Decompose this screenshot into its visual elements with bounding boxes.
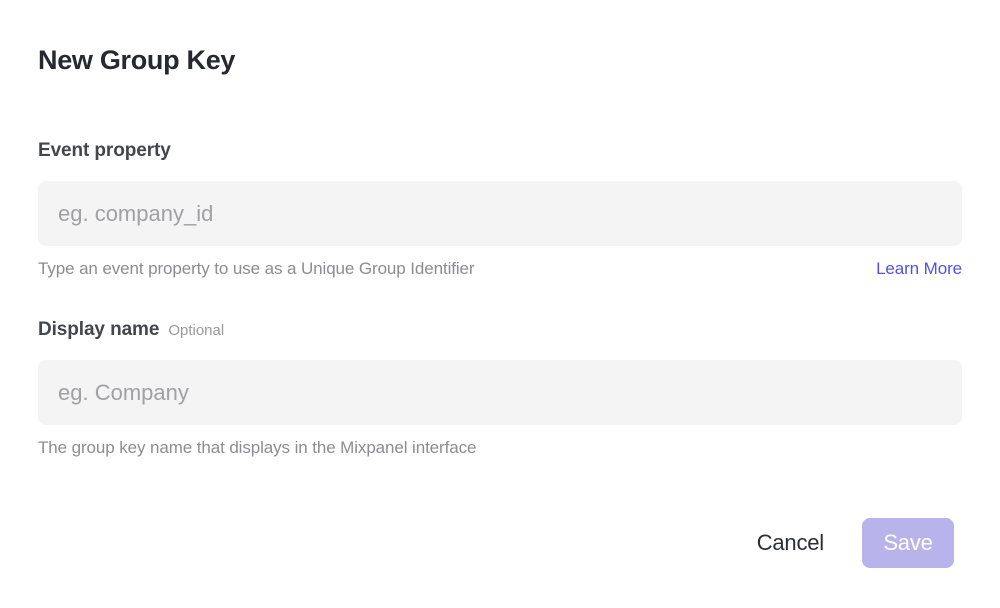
field-display-name: Display name Optional The group key name… (0, 319, 1000, 458)
field-label-display-name: Display name (38, 319, 159, 341)
save-button[interactable]: Save (862, 518, 954, 568)
field-label-row: Event property (38, 140, 962, 166)
new-group-key-dialog: New Group Key Event property Type an eve… (0, 0, 1000, 608)
display-name-input[interactable] (38, 360, 962, 425)
field-helper-row: The group key name that displays in the … (38, 438, 962, 458)
field-optional-tag: Optional (168, 322, 224, 339)
event-property-input[interactable] (38, 181, 962, 246)
field-spacer (0, 279, 1000, 319)
dialog-footer: Cancel Save (757, 518, 954, 568)
event-property-helper-text: Type an event property to use as a Uniqu… (38, 259, 474, 279)
display-name-helper-text: The group key name that displays in the … (38, 438, 476, 458)
page-title: New Group Key (38, 40, 235, 80)
field-label-row: Display name Optional (38, 319, 962, 345)
form-body: Event property Type an event property to… (0, 140, 1000, 458)
cancel-button[interactable]: Cancel (757, 530, 824, 556)
learn-more-link[interactable]: Learn More (876, 259, 962, 279)
field-label-event-property: Event property (38, 140, 171, 162)
field-event-property: Event property Type an event property to… (0, 140, 1000, 279)
field-helper-row: Type an event property to use as a Uniqu… (38, 259, 962, 279)
